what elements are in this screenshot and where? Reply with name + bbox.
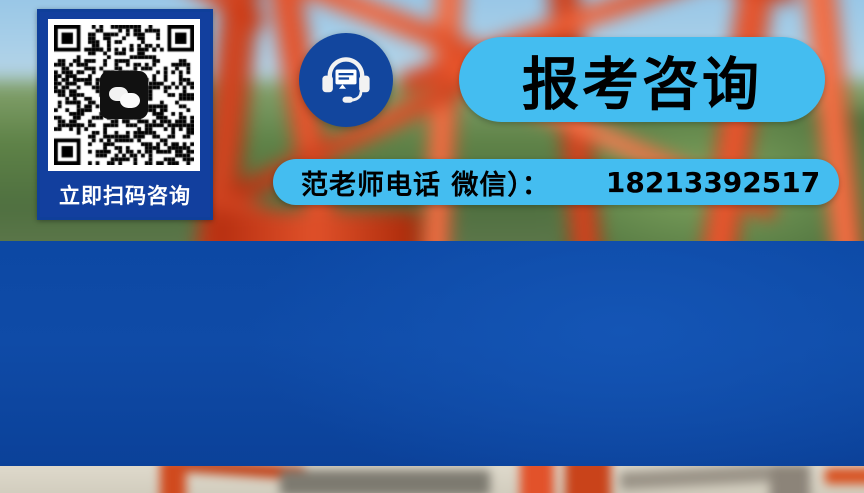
crane-leg — [160, 466, 186, 493]
post-region — [770, 466, 810, 493]
contact-label: 范老师电话 微信）： — [301, 163, 550, 202]
categories-panel: 特种作业： 电工证、焊工证、高处作业证、制冷作业、安全员证等 特种设备： 叉车证… — [0, 241, 864, 466]
poster-title: 报考咨询 — [522, 39, 762, 121]
contact-pill[interactable]: 范老师电话 微信）： 18213392517 — [273, 159, 839, 205]
wechat-icon — [100, 71, 148, 119]
crane-rail — [825, 468, 864, 484]
bottom-photo-strip — [0, 466, 864, 493]
contact-phone-number[interactable]: 18213392517 — [606, 166, 820, 199]
shadow-region — [280, 470, 490, 493]
crane-leg — [565, 466, 611, 493]
crane-leg — [520, 466, 554, 493]
crane-block — [210, 210, 420, 241]
title-pill: 报考咨询 — [459, 37, 825, 122]
headset-support-icon — [299, 33, 393, 127]
headset-glyph — [318, 52, 374, 108]
promo-poster: 立即扫码咨询 报考咨询 范老师电话 微信）： 18213392517 特种作业：… — [0, 0, 864, 493]
qr-caption: 立即扫码咨询 — [40, 175, 210, 215]
qr-card[interactable]: 立即扫码咨询 — [37, 9, 213, 220]
qr-code-image[interactable] — [48, 19, 200, 171]
